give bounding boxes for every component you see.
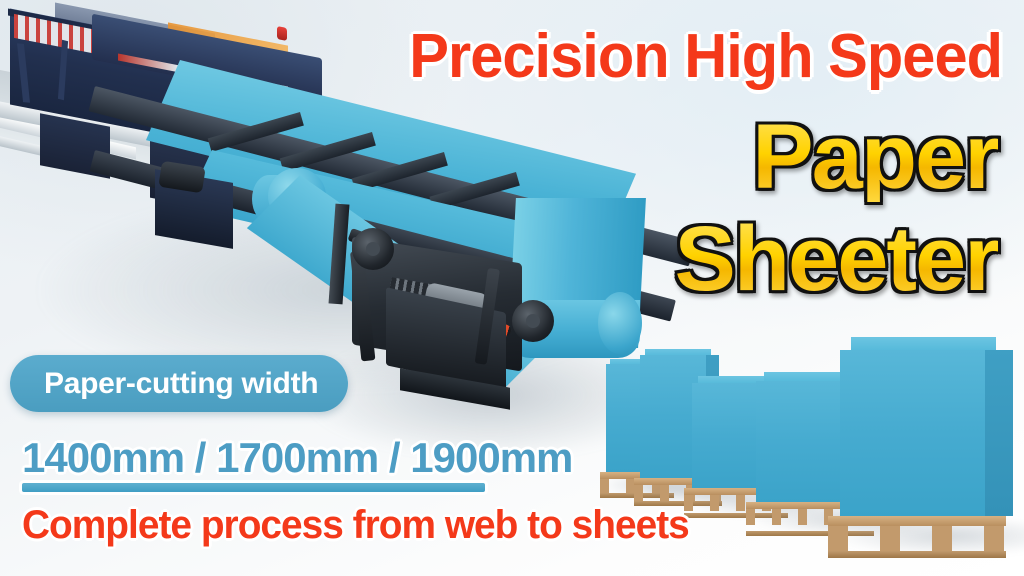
- paper-stack-5: [840, 350, 985, 516]
- pallet-5: [828, 516, 1006, 558]
- product-name-line-1: Paper: [238, 112, 998, 202]
- pallet-base: [828, 551, 1006, 558]
- tagline: Complete process from web to sheets: [22, 503, 689, 548]
- headline: Precision High Speed: [357, 26, 1002, 88]
- pallet-deck: [828, 516, 1006, 526]
- product-name-line-2: Sheeter: [238, 214, 998, 304]
- dimension-values: 1400mm / 1700mm / 1900mm: [22, 434, 572, 482]
- divider-rule: [22, 483, 485, 492]
- pallet-legs: [828, 526, 1006, 551]
- paper-cutting-width-badge: Paper-cutting width: [10, 355, 348, 412]
- drive-hub-right: [512, 300, 554, 342]
- badge-label: Paper-cutting width: [44, 367, 318, 401]
- status-lamp: [277, 26, 287, 41]
- stack-side-face: [985, 350, 1013, 516]
- stack-front-face: [840, 350, 985, 516]
- stack-top-face: [851, 337, 996, 351]
- product-banner: Precision High Speed Paper Sheeter Paper…: [0, 0, 1024, 576]
